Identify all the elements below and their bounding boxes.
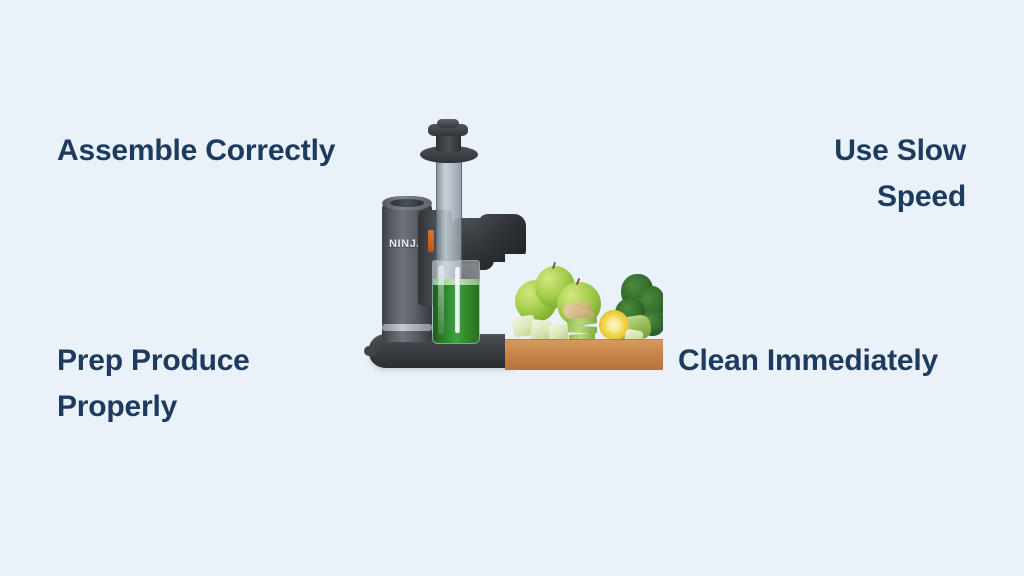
tip-assemble-correctly: Assemble Correctly [57,128,335,174]
juicer-motor-cap-inner [390,199,424,207]
product-composition: NINJA [360,122,670,374]
juicer-chute-knob [437,119,459,128]
tip-use-slow-speed: Use Slow Speed [834,128,966,220]
produce-photo [505,254,663,370]
infographic-slide: Assemble Correctly Use Slow Speed Prep P… [0,0,1024,576]
glass-highlight [438,265,444,335]
tip-clean-immediately: Clean Immediately [678,338,938,384]
juicer-orange-accent [428,230,434,252]
tip-prep-produce-properly: Prep Produce Properly [57,338,250,430]
juicer-motor-ring [382,324,432,331]
cutting-board [505,340,663,370]
lemon-flesh [606,317,622,333]
juice-glass [432,260,480,344]
drinking-straw [455,267,460,333]
juicer-base-foot [364,346,377,356]
